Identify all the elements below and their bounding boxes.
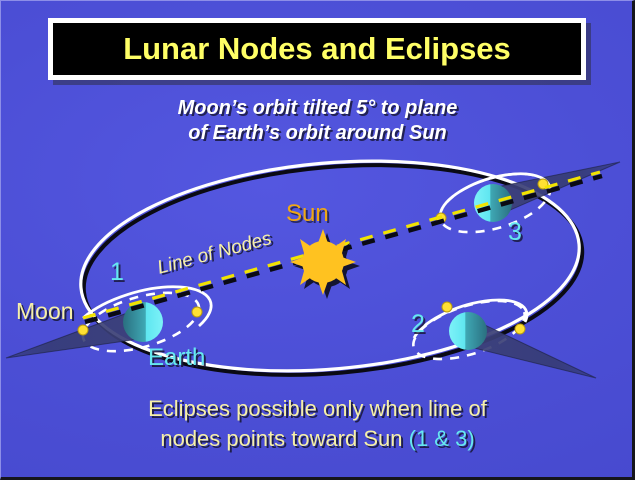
moon-dot-2a xyxy=(442,302,452,312)
earth-position-2 xyxy=(406,289,596,378)
position-2-label: 2 xyxy=(411,310,425,339)
slide-root: Sun Moon Earth Line of Nodes 1 2 3 Lunar… xyxy=(0,0,635,480)
sun-icon xyxy=(290,229,360,299)
moon-dot-1a xyxy=(78,325,88,335)
sun-disc xyxy=(302,241,344,283)
earth-sphere-2 xyxy=(449,312,487,350)
subtitle-line-2: of Earth’s orbit around Sun xyxy=(0,121,635,146)
moon-dot-2b xyxy=(515,324,525,334)
position-3-label: 3 xyxy=(508,218,522,247)
page-title: Lunar Nodes and Eclipses xyxy=(123,31,511,67)
title-box: Lunar Nodes and Eclipses xyxy=(48,18,586,80)
moon-dot-1b xyxy=(192,307,202,317)
caption-line-2-main: nodes points toward Sun xyxy=(160,426,408,451)
caption: Eclipses possible only when line of node… xyxy=(0,394,635,454)
position-1-label: 1 xyxy=(110,258,124,287)
caption-highlight: (1 & 3) xyxy=(409,426,475,451)
earth-label: Earth xyxy=(148,344,205,372)
title-inner-panel: Lunar Nodes and Eclipses xyxy=(53,23,581,75)
caption-line-2: nodes points toward Sun (1 & 3) xyxy=(0,424,635,454)
sun-label: Sun xyxy=(286,200,329,228)
caption-line-1: Eclipses possible only when line of xyxy=(0,394,635,424)
earth-sphere-1 xyxy=(123,302,163,342)
subtitle: Moon’s orbit tilted 5° to plane of Earth… xyxy=(0,96,635,146)
moon-label: Moon xyxy=(16,298,74,325)
subtitle-line-1: Moon’s orbit tilted 5° to plane xyxy=(0,96,635,121)
